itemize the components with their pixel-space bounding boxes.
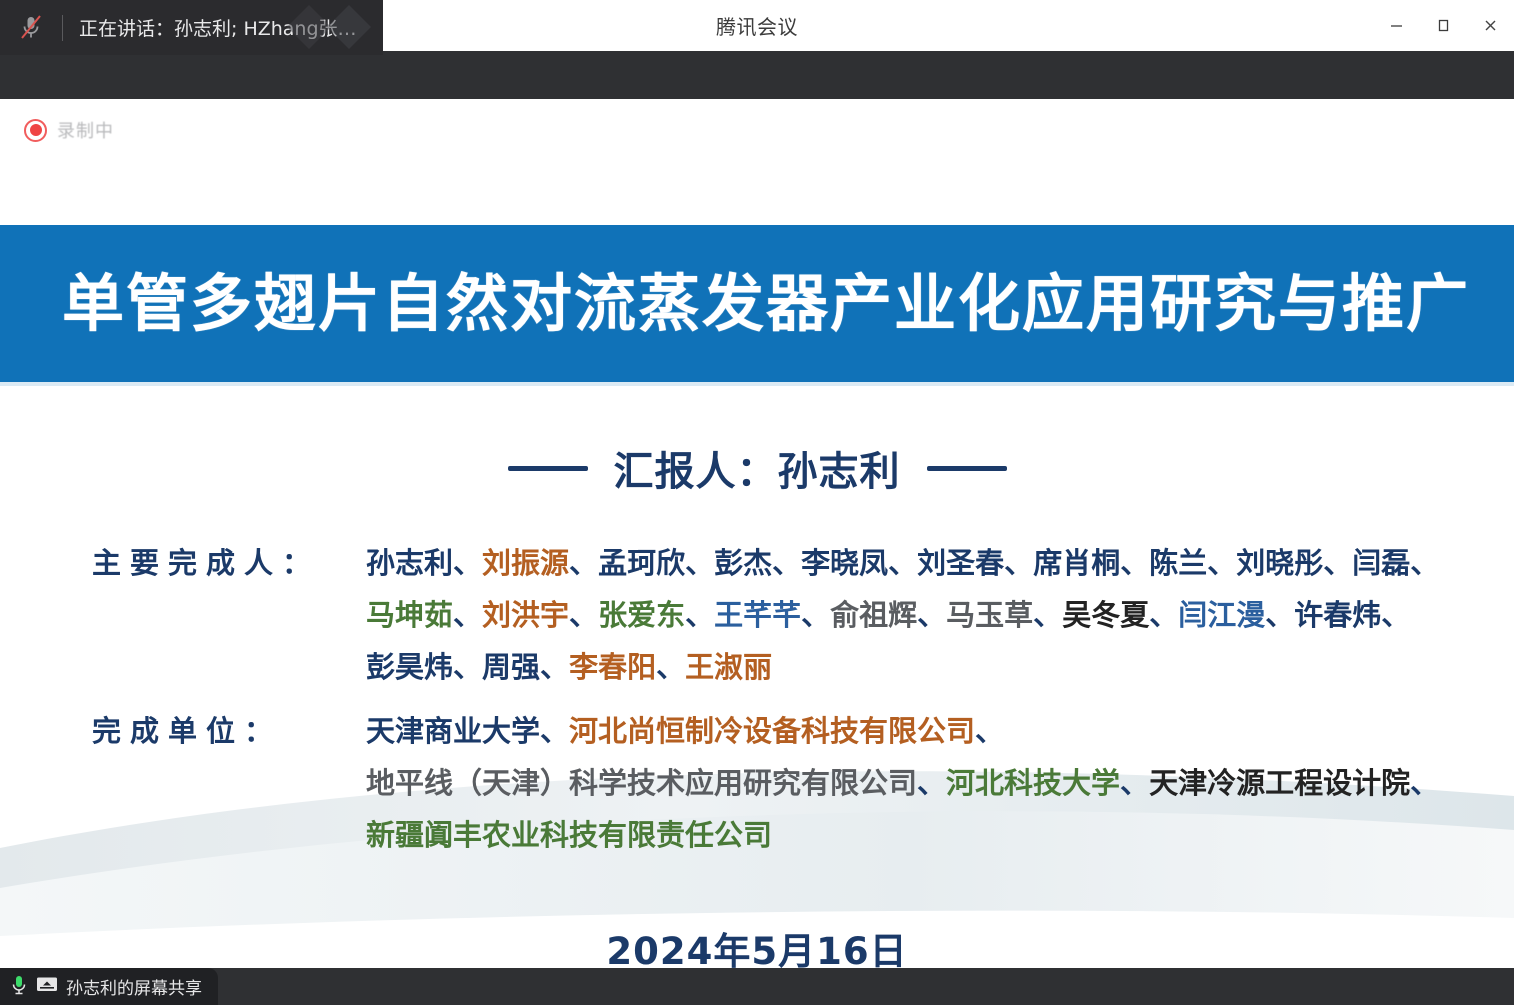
- active-speaker-text: 正在讲话：孙志利; HZhang张…: [79, 14, 357, 41]
- contributor-name: 周强: [482, 650, 540, 684]
- contributor-name: 闫江漫: [1178, 598, 1265, 632]
- organization-name: 新疆阗丰农业科技有限责任公司: [366, 818, 772, 852]
- contributor-name: 刘圣春: [917, 546, 1004, 580]
- slide-body: 主要完成人： 孙志利、刘振源、孟珂欣、彭杰、李晓凤、刘圣春、席肖桐、陈兰、刘晓彤…: [0, 537, 1514, 861]
- contributor-name: 张爱东: [598, 598, 685, 632]
- slide-title-banner: 单管多翅片自然对流蒸发器产业化应用研究与推广: [0, 225, 1514, 382]
- organization-name: 天津商业大学: [366, 714, 540, 748]
- screen-share-status[interactable]: 孙志利的屏幕共享: [0, 968, 218, 1005]
- list-separator: 、: [685, 546, 714, 580]
- list-separator: 、: [1033, 598, 1062, 632]
- tencent-meeting-window: 腾讯会议: [0, 0, 1514, 1005]
- minimize-button[interactable]: [1373, 0, 1420, 51]
- list-separator: 、: [772, 546, 801, 580]
- list-separator: 、: [1323, 546, 1352, 580]
- list-separator: 、: [1004, 546, 1033, 580]
- maximize-button[interactable]: [1420, 0, 1467, 51]
- contributors-row: 主要完成人： 孙志利、刘振源、孟珂欣、彭杰、李晓凤、刘圣春、席肖桐、陈兰、刘晓彤…: [92, 537, 1454, 693]
- list-separator: 、: [1120, 766, 1149, 800]
- contributor-name: 彭昊炜: [366, 650, 453, 684]
- list-separator: 、: [801, 598, 830, 632]
- slide-title: 单管多翅片自然对流蒸发器产业化应用研究与推广: [0, 273, 1510, 335]
- contributor-name: 王淑丽: [685, 650, 772, 684]
- contributor-name: 孟珂欣: [598, 546, 685, 580]
- contributor-name: 俞祖辉: [830, 598, 917, 632]
- meeting-toolbar-strip: [0, 51, 1514, 99]
- contributor-name: 马玉草: [946, 598, 1033, 632]
- organization-name: 河北科技大学: [946, 766, 1120, 800]
- presenter-rule-left: [508, 466, 588, 471]
- list-separator: 、: [1265, 598, 1294, 632]
- slide-date: 2024年5月16日: [0, 921, 1514, 968]
- recording-label: 录制中: [57, 117, 114, 143]
- contributor-name: 李春阳: [569, 650, 656, 684]
- organization-name: 地平线（天津）科学技术应用研究有限公司: [366, 766, 917, 800]
- contributor-name: 李晓凤: [801, 546, 888, 580]
- list-separator: 、: [569, 598, 598, 632]
- record-dot-icon: [24, 119, 47, 142]
- microphone-muted-icon[interactable]: [0, 0, 62, 55]
- list-separator: 、: [453, 650, 482, 684]
- presenter-text: 汇报人：孙志利: [614, 439, 901, 497]
- close-button[interactable]: [1467, 0, 1514, 51]
- organizations-value: 天津商业大学、河北尚恒制冷设备科技有限公司、地平线（天津）科学技术应用研究有限公…: [366, 705, 1454, 861]
- list-separator: 、: [453, 546, 482, 580]
- contributors-value: 孙志利、刘振源、孟珂欣、彭杰、李晓凤、刘圣春、席肖桐、陈兰、刘晓彤、闫磊、马坤茹…: [366, 537, 1454, 693]
- contributor-name: 刘洪宇: [482, 598, 569, 632]
- contributor-name: 闫磊: [1352, 546, 1410, 580]
- contributor-name: 陈兰: [1149, 546, 1207, 580]
- list-separator: 、: [685, 598, 714, 632]
- contributor-name: 王芊芊: [714, 598, 801, 632]
- microphone-on-icon[interactable]: [10, 974, 28, 1000]
- active-speaker-banner[interactable]: 正在讲话：孙志利; HZhang张…: [0, 0, 383, 55]
- screen-share-text: 孙志利的屏幕共享: [66, 974, 202, 999]
- contributor-name: 席肖桐: [1033, 546, 1120, 580]
- list-separator: 、: [540, 650, 569, 684]
- list-separator: 、: [1410, 546, 1439, 580]
- list-separator: 、: [1207, 546, 1236, 580]
- contributors-label: 主要完成人：: [92, 537, 366, 589]
- contributor-name: 孙志利: [366, 546, 453, 580]
- list-separator: 、: [975, 714, 1004, 748]
- window-controls: [1373, 0, 1514, 51]
- organization-name: 天津冷源工程设计院: [1149, 766, 1410, 800]
- speaker-divider: [62, 15, 63, 41]
- screen-share-icon[interactable]: [36, 976, 58, 998]
- organizations-row: 完成单位： 天津商业大学、河北尚恒制冷设备科技有限公司、地平线（天津）科学技术应…: [92, 705, 1454, 861]
- list-separator: 、: [888, 546, 917, 580]
- contributor-name: 彭杰: [714, 546, 772, 580]
- meeting-bottom-bar: 孙志利的屏幕共享: [0, 968, 1514, 1005]
- contributor-name: 刘振源: [482, 546, 569, 580]
- presenter-line: 汇报人：孙志利: [0, 439, 1514, 497]
- list-separator: 、: [1381, 598, 1410, 632]
- organization-name: 河北尚恒制冷设备科技有限公司: [569, 714, 975, 748]
- presenter-rule-right: [927, 466, 1007, 471]
- organizations-label: 完成单位：: [92, 705, 366, 757]
- contributor-name: 马坤茹: [366, 598, 453, 632]
- list-separator: 、: [453, 598, 482, 632]
- contributor-name: 吴冬夏: [1062, 598, 1149, 632]
- recording-indicator[interactable]: 录制中: [24, 117, 114, 143]
- contributor-name: 刘晓彤: [1236, 546, 1323, 580]
- list-separator: 、: [917, 766, 946, 800]
- list-separator: 、: [917, 598, 946, 632]
- list-separator: 、: [569, 546, 598, 580]
- contributor-name: 许春炜: [1294, 598, 1381, 632]
- list-separator: 、: [1149, 598, 1178, 632]
- list-separator: 、: [1120, 546, 1149, 580]
- list-separator: 、: [1410, 766, 1439, 800]
- list-separator: 、: [656, 650, 685, 684]
- list-separator: 、: [540, 714, 569, 748]
- shared-screen-stage: 录制中 单管多翅片自然对流蒸发器产业化应用研究与推广 汇报人：孙志利 主要完成人…: [0, 99, 1514, 968]
